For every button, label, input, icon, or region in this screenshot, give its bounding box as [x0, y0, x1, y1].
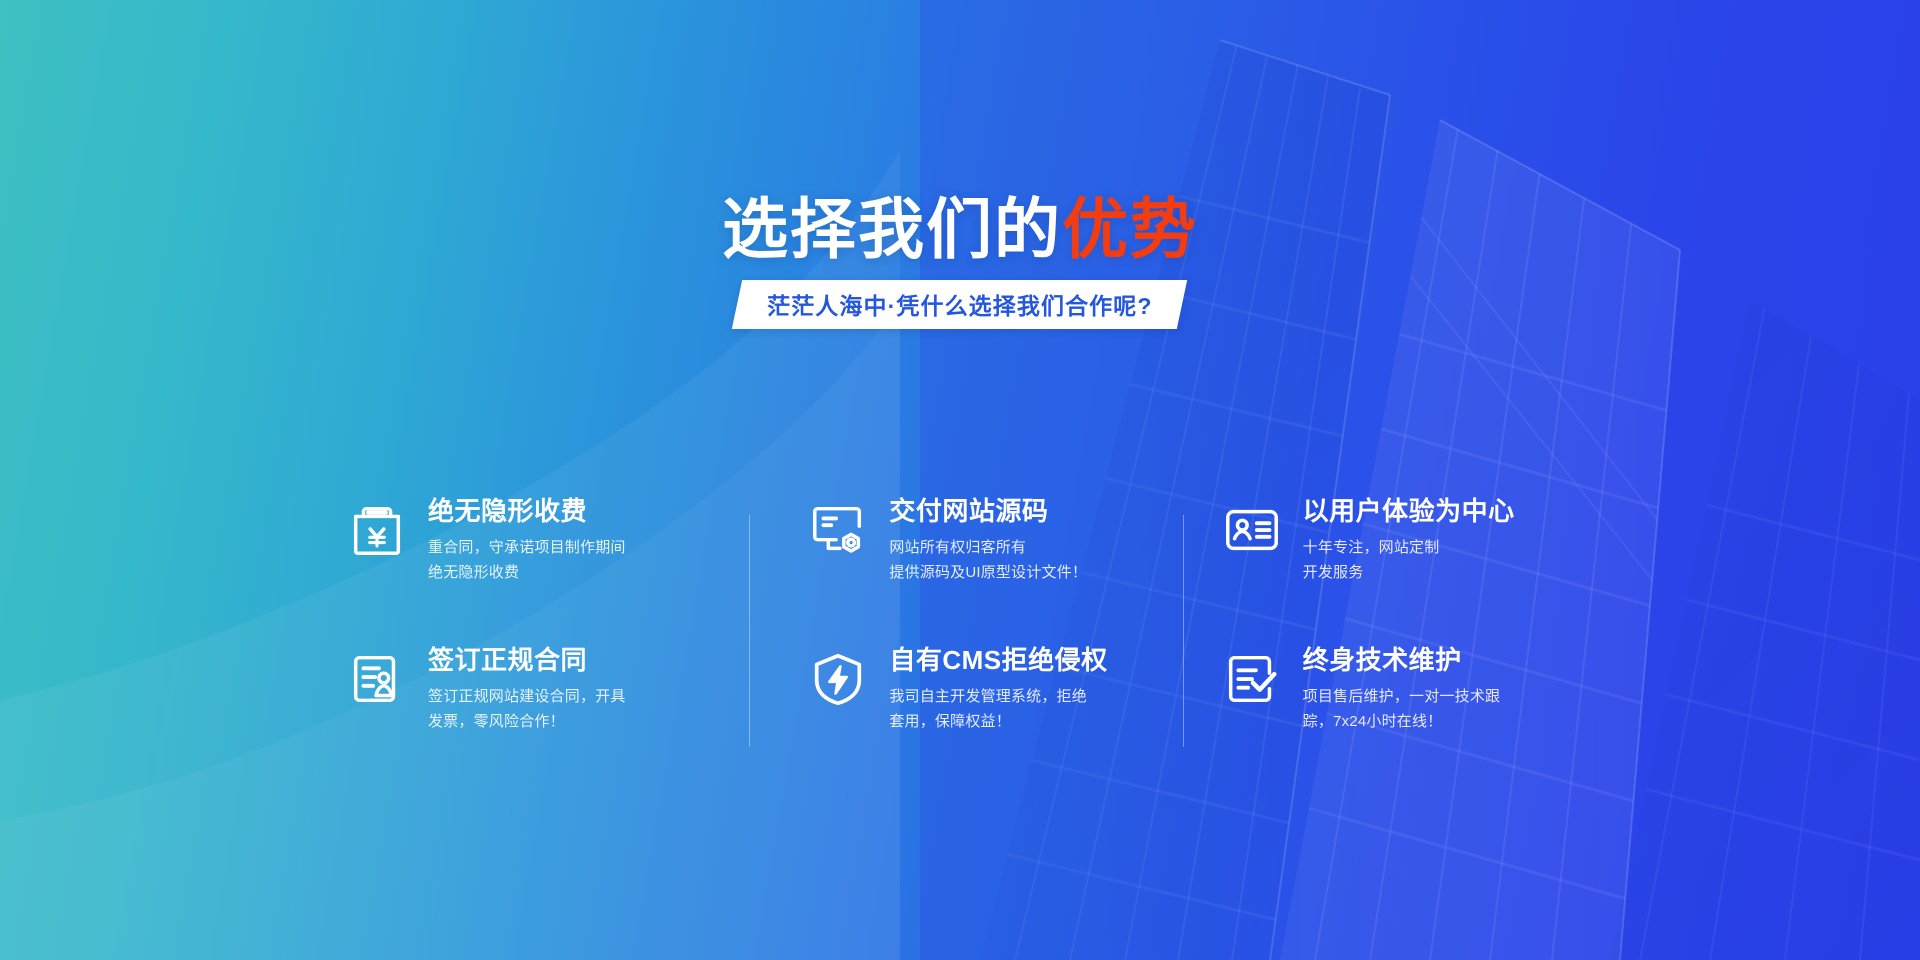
feature-description: 项目售后维护，一对一技术跟 踪，7x24小时在线！ — [1303, 685, 1501, 735]
column-divider-1 — [749, 515, 750, 747]
page-title-accent: 优势 — [1062, 192, 1198, 266]
feature-description-line: 签订正规网站建设合同，开具 — [428, 685, 626, 710]
feature-title: 终身技术维护 — [1303, 646, 1501, 676]
feature-item-user-experience-centered[interactable]: 以用户体验为中心 十年专注，网站定制 开发服务 — [1167, 495, 1580, 616]
monitor-gear-icon — [807, 499, 869, 561]
feature-description: 签订正规网站建设合同，开具 发票，零风险合作！ — [428, 685, 626, 735]
feature-item-own-cms[interactable]: 自有CMS拒绝侵权 我司自主开发管理系统，拒绝 套用，保障权益！ — [753, 644, 1166, 765]
feature-title: 交付网站源码 — [889, 497, 1087, 527]
shield-bolt-icon — [807, 648, 869, 710]
feature-description-line: 绝无隐形收费 — [428, 561, 626, 586]
feature-text-block: 签订正规合同 签订正规网站建设合同，开具 发票，零风险合作！ — [428, 644, 626, 734]
feature-description-line: 开发服务 — [1303, 561, 1515, 586]
feature-title: 绝无隐形收费 — [428, 497, 626, 527]
feature-description-line: 重合同，守承诺项目制作期间 — [428, 536, 626, 561]
feature-title: 自有CMS拒绝侵权 — [889, 646, 1107, 676]
feature-text-block: 以用户体验为中心 十年专注，网站定制 开发服务 — [1303, 495, 1515, 585]
feature-description-line: 网站所有权归客所有 — [889, 536, 1087, 561]
feature-title: 以用户体验为中心 — [1303, 497, 1515, 527]
page-title-prefix: 选择我们的 — [722, 192, 1062, 266]
feature-description-line: 十年专注，网站定制 — [1303, 536, 1515, 561]
contract-person-icon — [346, 648, 408, 710]
feature-description-line: 发票，零风险合作！ — [428, 710, 626, 735]
background-wave-shape — [0, 0, 900, 960]
feature-item-no-hidden-fees[interactable]: 绝无隐形收费 重合同，守承诺项目制作期间 绝无隐形收费 — [340, 495, 753, 616]
feature-description: 十年专注，网站定制 开发服务 — [1303, 536, 1515, 586]
subtitle-banner: 茫茫人海中·凭什么选择我们合作呢? — [732, 280, 1188, 329]
page-header: 选择我们的优势 茫茫人海中·凭什么选择我们合作呢? — [0, 196, 1920, 329]
feature-description: 网站所有权归客所有 提供源码及UI原型设计文件！ — [889, 536, 1087, 586]
feature-text-block: 交付网站源码 网站所有权归客所有 提供源码及UI原型设计文件！ — [889, 495, 1087, 585]
feature-description: 重合同，守承诺项目制作期间 绝无隐形收费 — [428, 536, 626, 586]
feature-description-line: 项目售后维护，一对一技术跟 — [1303, 685, 1501, 710]
feature-item-formal-contract[interactable]: 签订正规合同 签订正规网站建设合同，开具 发票，零风险合作！ — [340, 644, 753, 765]
subtitle-wrapper: 茫茫人海中·凭什么选择我们合作呢? — [737, 280, 1182, 329]
feature-description-line: 我司自主开发管理系统，拒绝 — [889, 685, 1107, 710]
feature-description-line: 踪，7x24小时在线！ — [1303, 710, 1501, 735]
background-layer — [0, 0, 1920, 960]
background-blue-veil — [920, 0, 1920, 960]
feature-description-line: 提供源码及UI原型设计文件！ — [889, 561, 1087, 586]
id-card-icon — [1221, 499, 1283, 561]
feature-description: 我司自主开发管理系统，拒绝 套用，保障权益！ — [889, 685, 1107, 735]
column-divider-2 — [1183, 515, 1184, 747]
feature-description-line: 套用，保障权益！ — [889, 710, 1107, 735]
checklist-check-icon — [1221, 648, 1283, 710]
feature-text-block: 终身技术维护 项目售后维护，一对一技术跟 踪，7x24小时在线！ — [1303, 644, 1501, 734]
feature-text-block: 绝无隐形收费 重合同，守承诺项目制作期间 绝无隐形收费 — [428, 495, 626, 585]
clipboard-yuan-icon — [346, 499, 408, 561]
subtitle-text: 茫茫人海中·凭什么选择我们合作呢? — [767, 287, 1152, 321]
feature-grid: 绝无隐形收费 重合同，守承诺项目制作期间 绝无隐形收费 交付网站源码 网站所有权… — [340, 495, 1580, 765]
feature-title: 签订正规合同 — [428, 646, 626, 676]
page-title: 选择我们的优势 — [0, 196, 1920, 262]
feature-item-lifetime-maintenance[interactable]: 终身技术维护 项目售后维护，一对一技术跟 踪，7x24小时在线！ — [1167, 644, 1580, 765]
feature-text-block: 自有CMS拒绝侵权 我司自主开发管理系统，拒绝 套用，保障权益！ — [889, 644, 1107, 734]
feature-item-deliver-source-code[interactable]: 交付网站源码 网站所有权归客所有 提供源码及UI原型设计文件！ — [753, 495, 1166, 616]
